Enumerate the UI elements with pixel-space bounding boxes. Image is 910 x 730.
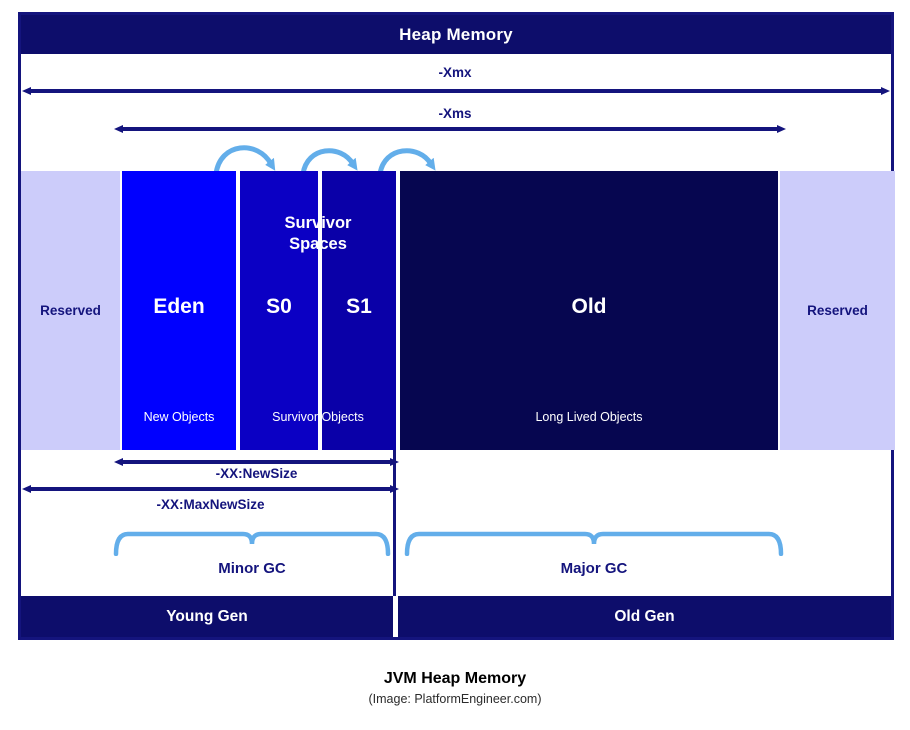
memory-band: Reserved Eden New Objects S0 S1 Survivor… bbox=[21, 171, 895, 450]
xmx-arrow bbox=[18, 80, 894, 102]
region-reserved-right: Reserved bbox=[780, 171, 895, 450]
old-gen-label: Old Gen bbox=[614, 608, 674, 626]
region-old: Old Long Lived Objects bbox=[398, 171, 780, 450]
jvm-heap-memory-diagram: Heap Memory -Xmx -Xms Reserved bbox=[0, 0, 910, 730]
region-eden: Eden New Objects bbox=[120, 171, 238, 450]
reserved-left-label: Reserved bbox=[40, 303, 101, 318]
minor-gc-label: Minor GC bbox=[112, 560, 392, 577]
heap-memory-title: Heap Memory bbox=[399, 25, 513, 45]
minor-gc-bracket bbox=[112, 528, 392, 556]
maxnewsize-label: -XX:MaxNewSize bbox=[18, 497, 403, 512]
region-reserved-left: Reserved bbox=[21, 171, 120, 450]
old-sublabel: Long Lived Objects bbox=[400, 410, 778, 424]
s0-label: S0 bbox=[240, 295, 318, 319]
major-gc-bracket bbox=[403, 528, 785, 556]
heap-memory-header: Heap Memory bbox=[21, 15, 891, 54]
s1-label: S1 bbox=[322, 295, 396, 319]
eden-label: Eden bbox=[122, 295, 236, 319]
generation-divider bbox=[393, 450, 396, 596]
young-gen-label: Young Gen bbox=[166, 608, 248, 626]
old-label: Old bbox=[400, 295, 778, 319]
reserved-right-label: Reserved bbox=[807, 303, 868, 318]
old-generation-bar: Old Gen bbox=[398, 596, 891, 637]
eden-sublabel: New Objects bbox=[122, 410, 236, 424]
xmx-label: -Xmx bbox=[0, 65, 910, 80]
region-survivor-s1: S1 bbox=[320, 171, 398, 450]
caption-source: (Image: PlatformEngineer.com) bbox=[0, 692, 910, 706]
promotion-arrows bbox=[195, 134, 460, 176]
young-generation-bar: Young Gen bbox=[21, 596, 393, 637]
caption-title: JVM Heap Memory bbox=[0, 670, 910, 688]
major-gc-label: Major GC bbox=[403, 560, 785, 577]
region-survivor-s0: S0 bbox=[238, 171, 320, 450]
